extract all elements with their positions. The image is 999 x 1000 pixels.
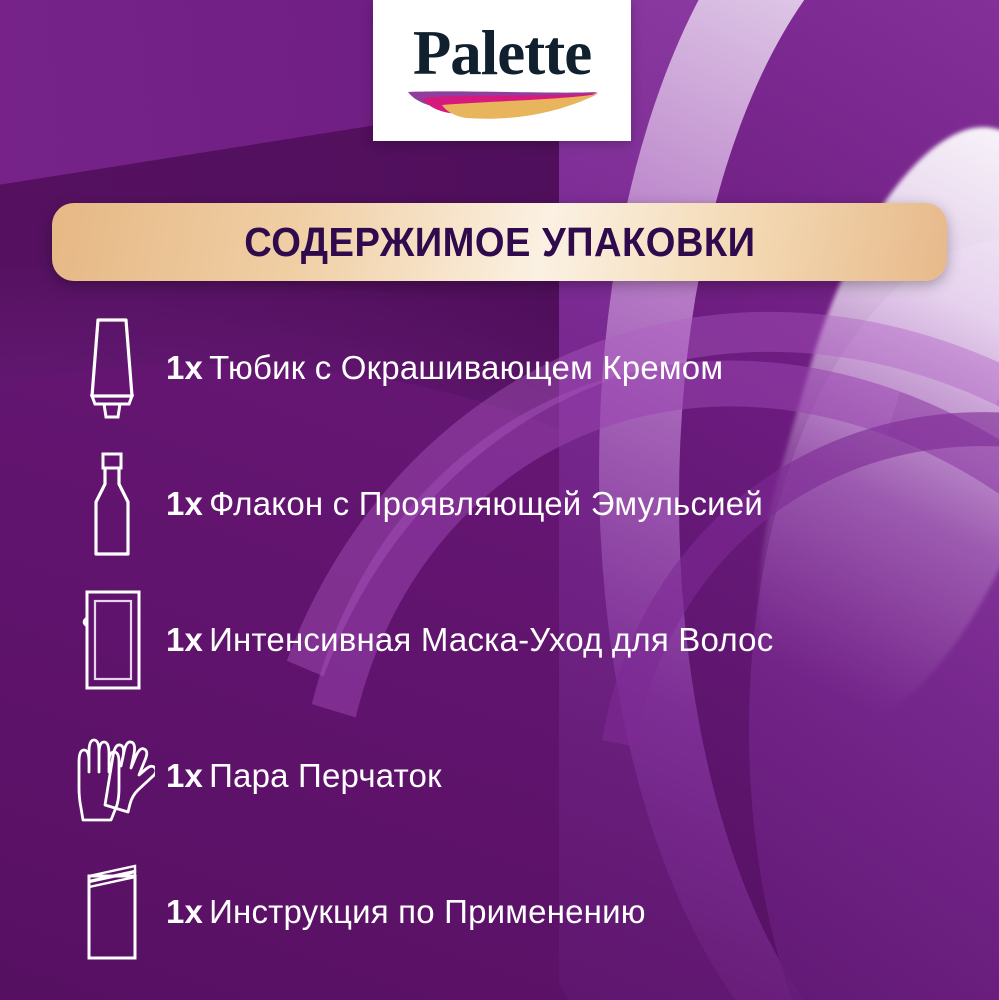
list-item-label: Интенсивная Маска-Уход для Волос [209,621,773,658]
page-title: СОДЕРЖИМОЕ УПАКОВКИ [244,219,755,266]
list-item: 1xИнтенсивная Маска-Уход для Волос [0,572,999,708]
booklet-icon [58,862,166,962]
list-item-quantity: 1x [166,757,203,794]
list-item-text: 1xПара Перчаток [166,757,442,795]
contents-list: 1xТюбик с Окрашивающем Кремом 1xФлакон с… [0,300,999,980]
tube-icon [58,316,166,420]
list-item-text: 1xФлакон с Проявляющей Эмульсией [166,485,763,523]
list-item: 1xПара Перчаток [0,708,999,844]
bottle-icon [58,450,166,558]
section-title-banner: СОДЕРЖИМОЕ УПАКОВКИ [52,203,947,281]
list-item-text: 1xИнтенсивная Маска-Уход для Волос [166,621,773,659]
list-item-label: Инструкция по Применению [209,893,646,930]
list-item-quantity: 1x [166,893,203,930]
list-item-text: 1xТюбик с Окрашивающем Кремом [166,349,723,387]
list-item-text: 1xИнструкция по Применению [166,893,646,931]
list-item-label: Тюбик с Окрашивающем Кремом [209,349,723,386]
gloves-icon [58,726,166,826]
brand-swoosh-icon [402,88,602,122]
list-item-label: Флакон с Проявляющей Эмульсией [209,485,763,522]
list-item: 1xИнструкция по Применению [0,844,999,980]
list-item-quantity: 1x [166,485,203,522]
sachet-icon [58,588,166,692]
list-item-quantity: 1x [166,621,203,658]
brand-logo-text: Palette [413,22,591,85]
list-item-quantity: 1x [166,349,203,386]
package-contents-poster: Palette СОДЕРЖИМОЕ УПАКОВКИ 1xТюбик с О [0,0,999,1000]
brand-logo-plate: Palette [373,0,631,141]
list-item: 1xФлакон с Проявляющей Эмульсией [0,436,999,572]
list-item: 1xТюбик с Окрашивающем Кремом [0,300,999,436]
list-item-label: Пара Перчаток [209,757,442,794]
